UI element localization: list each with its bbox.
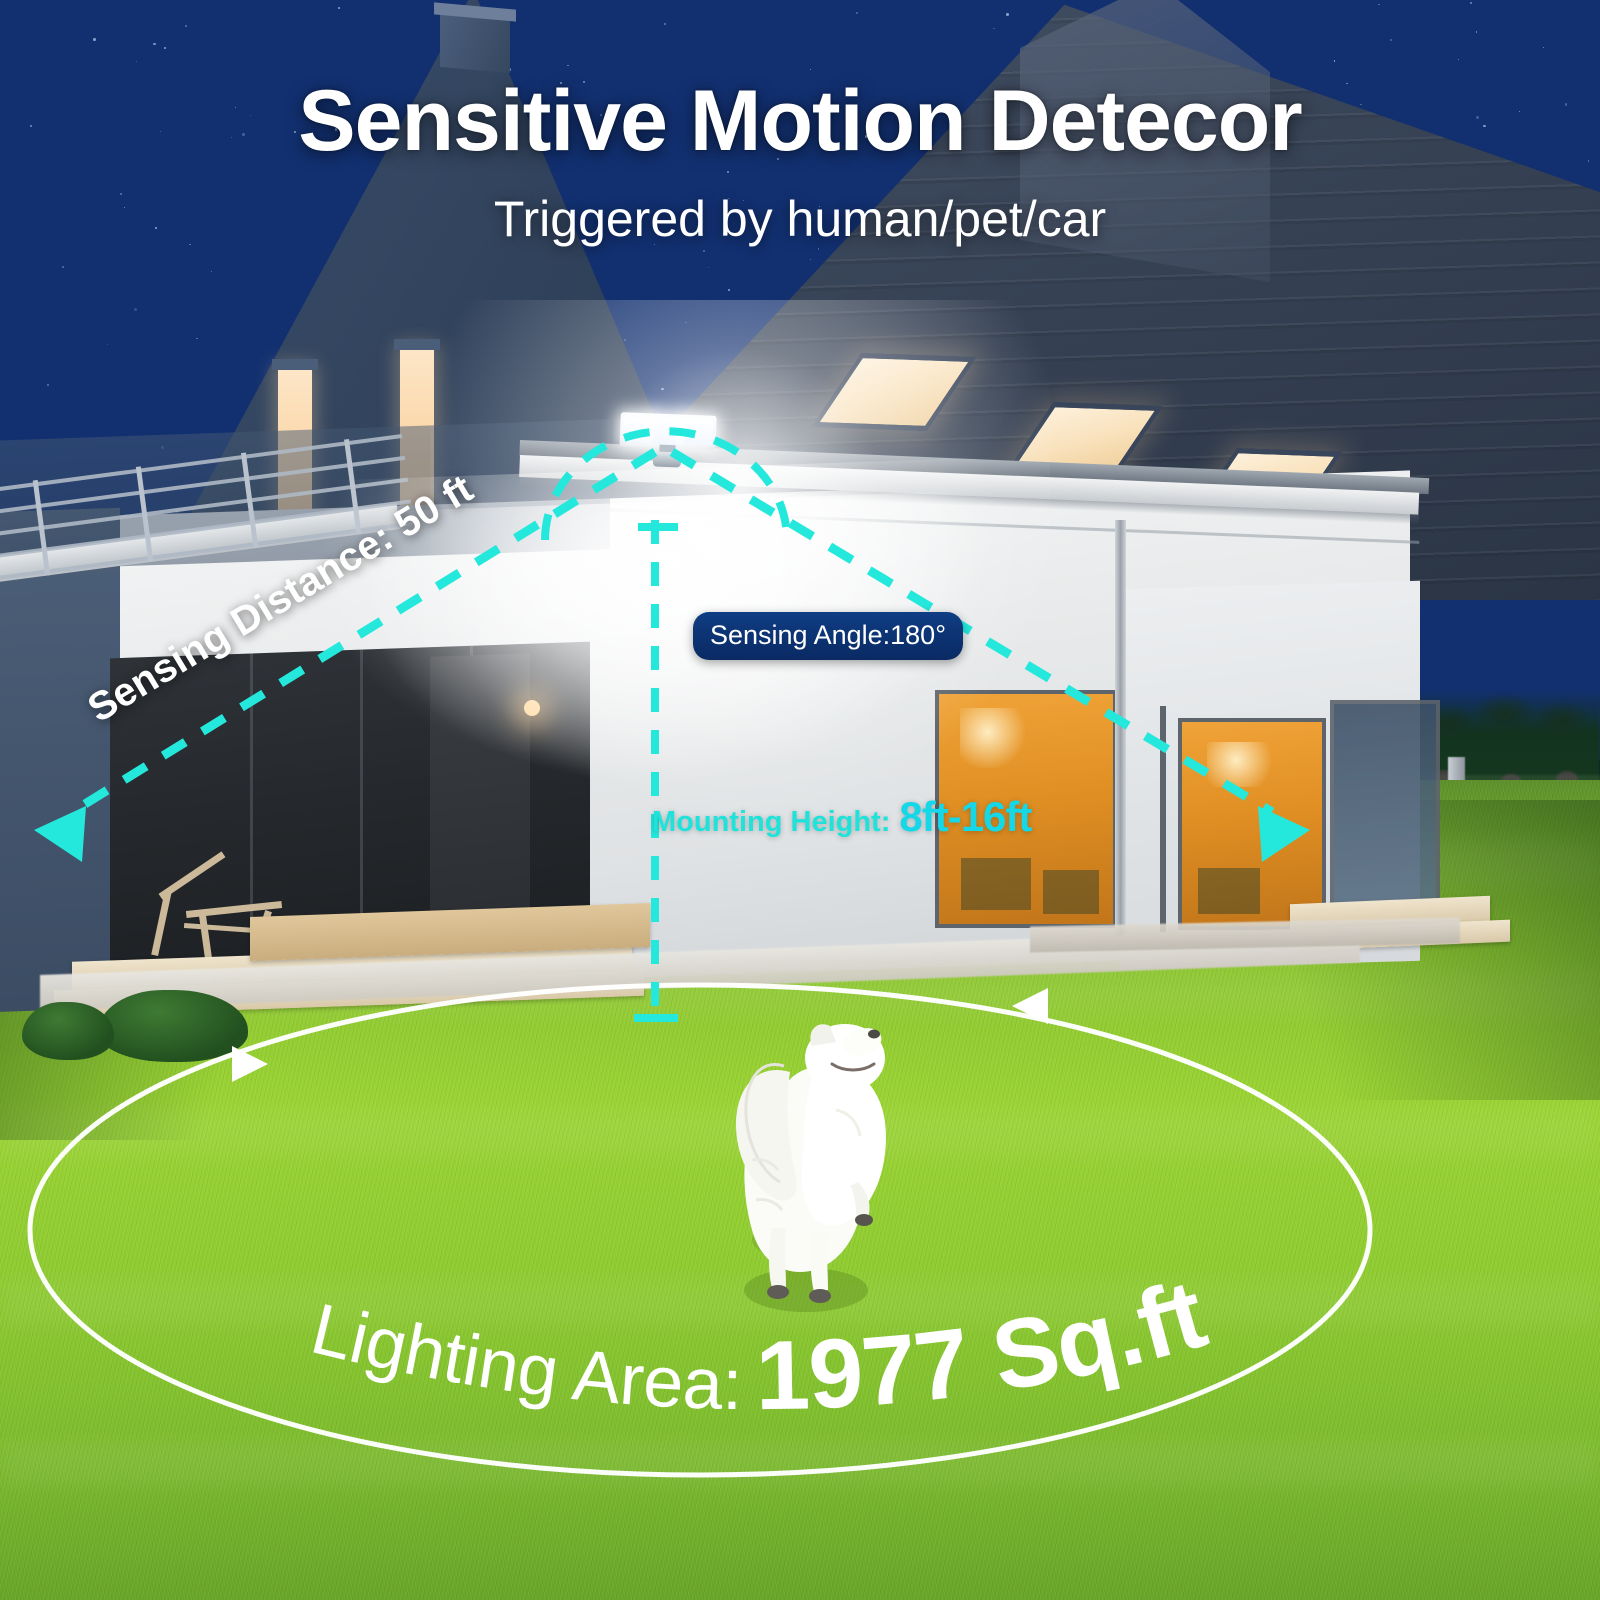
star	[818, 248, 820, 250]
star	[567, 65, 568, 66]
star	[1006, 13, 1009, 16]
pir-sensor	[653, 451, 682, 467]
window-mullion	[1160, 706, 1166, 932]
star	[624, 339, 626, 341]
star	[338, 7, 340, 9]
star	[685, 322, 686, 323]
mounting-height-prefix: Mounting Height:	[652, 806, 890, 839]
star	[196, 338, 197, 339]
star	[1470, 2, 1472, 4]
star	[211, 271, 212, 272]
star	[703, 250, 705, 252]
mounting-height-label: Mounting Height: 8ft-16ft	[652, 793, 1031, 841]
star	[93, 38, 95, 40]
sensing-angle-badge: Sensing Angle:180°	[693, 612, 963, 660]
page-subtitle: Triggered by human/pet/car	[0, 190, 1600, 248]
led-panel	[654, 417, 683, 444]
shrub	[22, 1002, 114, 1060]
shrub	[98, 990, 248, 1062]
star	[1476, 31, 1477, 32]
star	[62, 266, 64, 268]
window-dining	[1178, 718, 1326, 930]
star	[1334, 60, 1335, 61]
downpipe	[1115, 520, 1126, 940]
star	[153, 43, 156, 46]
page-title: Sensitive Motion Detecor	[0, 72, 1600, 171]
facade-highlight	[330, 487, 1090, 1034]
led-panel	[623, 416, 652, 443]
star	[664, 23, 665, 24]
led-panel	[685, 419, 714, 446]
star	[134, 308, 137, 311]
product-feature-image: Sensitive Motion Detecor Triggered by hu…	[0, 0, 1600, 1600]
star	[164, 47, 166, 49]
star	[856, 12, 858, 14]
led-flood-light[interactable]	[619, 412, 717, 458]
mounting-height-value: 8ft-16ft	[899, 793, 1031, 841]
window-reflective-right	[1330, 700, 1440, 920]
